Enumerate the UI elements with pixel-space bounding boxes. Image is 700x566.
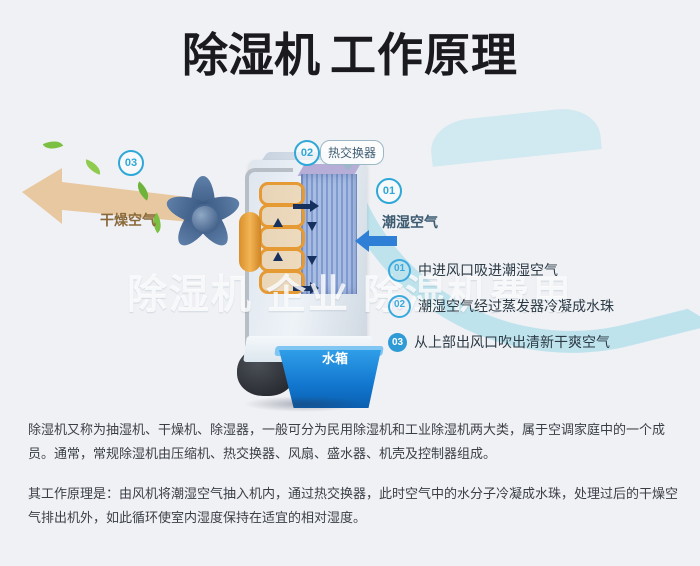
page-title-part-b: 工作原理 [330,29,518,81]
label-dry-air: 干燥空气 [100,210,156,230]
flow-arrow-down-icon [307,222,317,231]
step-text-03: 从上部出风口吹出清新干爽空气 [414,332,610,352]
step-item-01: 01 中进风口吸进潮湿空气 [388,252,688,288]
flow-arrow-up-icon [273,252,283,261]
illustration-badge-02: 02 [294,140,320,166]
step-item-02: 02 潮湿空气经过蒸发器冷凝成水珠 [388,288,688,324]
air-intake-arrow-icon [369,236,397,246]
compressor-cylinder [239,212,261,272]
page-title-part-a: 除湿机 [182,29,320,81]
flow-arrow-down-icon [307,256,317,265]
illustration-badge-03: 03 [118,150,144,176]
fan-hub [190,204,220,234]
label-humid-air: 潮湿空气 [382,212,438,232]
infographic-page: 除湿机工作原理 [0,0,700,566]
step-badge-03: 03 [388,333,407,352]
flow-arrow-right-icon [293,204,311,209]
coil-loop [259,182,305,206]
step-list: 01 中进风口吸进潮湿空气 02 潮湿空气经过蒸发器冷凝成水珠 03 从上部出风… [388,252,688,360]
flow-arrow-up-icon [273,218,283,227]
step-badge-01: 01 [388,259,411,282]
dehumidifier-cutaway-graphic [243,160,393,390]
leaf-icon [43,137,64,154]
condenser-coils [259,182,305,298]
paragraph-2: 其工作原理是：由风机将潮湿空气抽入机内，通过热交换器，此时空气中的水分子冷凝成水… [28,482,678,530]
step-text-02: 潮湿空气经过蒸发器冷凝成水珠 [418,296,614,316]
fan-graphic [160,168,246,264]
evaporator-fins [301,174,357,294]
step-text-01: 中进风口吸进潮湿空气 [418,260,558,280]
heat-exchanger-callout: 热交换器 [320,140,384,165]
step-badge-02: 02 [388,295,411,318]
flow-arrow-right-icon [293,286,311,291]
illustration-badge-01: 01 [376,178,402,204]
page-title: 除湿机工作原理 [0,26,700,84]
label-water-tank: 水箱 [322,348,348,367]
body-copy: 除湿机又称为抽湿机、干燥机、除湿器，一般可分为民用除湿机和工业除湿机两大类，属于… [28,418,678,546]
step-item-03: 03 从上部出风口吹出清新干爽空气 [388,324,688,360]
coil-loop [259,226,305,250]
base-shadow [243,396,363,412]
paragraph-1: 除湿机又称为抽湿机、干燥机、除湿器，一般可分为民用除湿机和工业除湿机两大类，属于… [28,418,678,466]
